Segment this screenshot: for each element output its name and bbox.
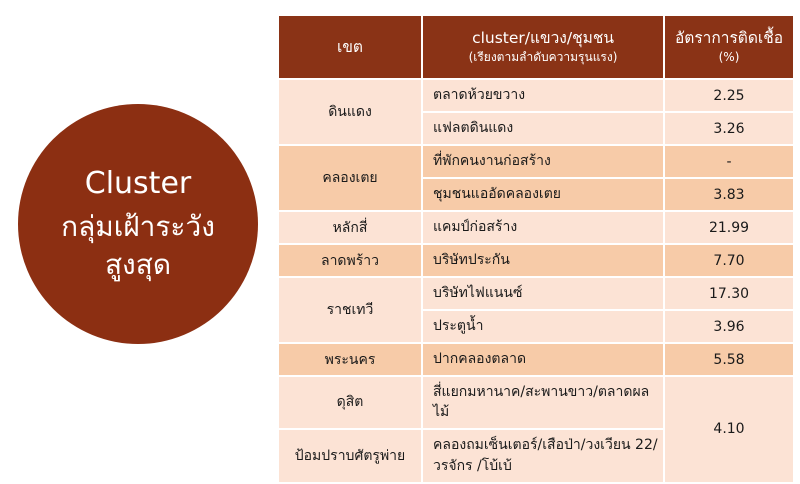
table-header-row: เขต cluster/แขวง/ชุมชน (เรียงตามลำดับควา… bbox=[279, 16, 793, 78]
cell-cluster: ที่พักคนงานก่อสร้าง bbox=[423, 146, 663, 177]
column-header-rate: อัตราการติดเชื้อ (%) bbox=[665, 16, 793, 78]
cell-rate: 3.83 bbox=[665, 179, 793, 210]
cell-cluster: บริษัทไฟแนนซ์ bbox=[423, 278, 663, 309]
column-header-district-label: เขต bbox=[285, 37, 415, 58]
cell-district: ดุสิต bbox=[279, 377, 421, 428]
column-header-rate-label: อัตราการติดเชื้อ bbox=[671, 28, 787, 49]
cell-district: ราชเทวี bbox=[279, 278, 421, 342]
cell-rate: - bbox=[665, 146, 793, 177]
cluster-badge: Cluster กลุ่มเฝ้าระวัง สูงสุด bbox=[18, 104, 258, 344]
cluster-badge-caption: สูงสุด bbox=[105, 247, 171, 283]
cell-district: หลักสี่ bbox=[279, 212, 421, 243]
column-header-rate-unit: (%) bbox=[671, 49, 787, 65]
cell-cluster: ตลาดห้วยขวาง bbox=[423, 80, 663, 111]
table-header: เขต cluster/แขวง/ชุมชน (เรียงตามลำดับควา… bbox=[279, 16, 793, 78]
cell-cluster: ประตูน้ำ bbox=[423, 311, 663, 342]
cell-rate: 5.58 bbox=[665, 344, 793, 375]
table-row: หลักสี่แคมป์ก่อสร้าง21.99 bbox=[279, 212, 793, 243]
cell-district: ลาดพร้าว bbox=[279, 245, 421, 276]
cluster-badge-subtitle: กลุ่มเฝ้าระวัง bbox=[61, 209, 215, 245]
cell-district: คลองเตย bbox=[279, 146, 421, 210]
table-row: พระนครปากคลองตลาด5.58 bbox=[279, 344, 793, 375]
cell-cluster: คลองถมเซ็นเตอร์/เสือป่า/วงเวียน 22/ วรจั… bbox=[423, 430, 663, 482]
cell-rate: 2.25 bbox=[665, 80, 793, 111]
cell-district: ดินแดง bbox=[279, 80, 421, 144]
table-row: ลาดพร้าวบริษัทประกัน7.70 bbox=[279, 245, 793, 276]
column-header-cluster: cluster/แขวง/ชุมชน (เรียงตามลำดับความรุน… bbox=[423, 16, 663, 78]
table-row: ราชเทวีบริษัทไฟแนนซ์17.30 bbox=[279, 278, 793, 309]
cell-rate: 3.96 bbox=[665, 311, 793, 342]
column-header-cluster-note: (เรียงตามลำดับความรุนแรง) bbox=[429, 49, 657, 65]
cell-rate: 3.26 bbox=[665, 113, 793, 144]
table-row: ดินแดงตลาดห้วยขวาง2.25 bbox=[279, 80, 793, 111]
table-body: ดินแดงตลาดห้วยขวาง2.25แฟลตดินแดง3.26คลอง… bbox=[279, 80, 793, 482]
cell-cluster: ชุมชนแออัดคลองเตย bbox=[423, 179, 663, 210]
cell-cluster: ปากคลองตลาด bbox=[423, 344, 663, 375]
infection-rate-table: เขต cluster/แขวง/ชุมชน (เรียงตามลำดับควา… bbox=[277, 14, 795, 484]
column-header-district: เขต bbox=[279, 16, 421, 78]
cell-district: ป้อมปราบศัตรูพ่าย bbox=[279, 430, 421, 482]
cell-cluster: บริษัทประกัน bbox=[423, 245, 663, 276]
cell-rate: 21.99 bbox=[665, 212, 793, 243]
cluster-badge-title: Cluster bbox=[85, 165, 191, 203]
cell-rate: 4.10 bbox=[665, 377, 793, 482]
table-row: คลองเตยที่พักคนงานก่อสร้าง- bbox=[279, 146, 793, 177]
cell-cluster: แคมป์ก่อสร้าง bbox=[423, 212, 663, 243]
cell-rate: 17.30 bbox=[665, 278, 793, 309]
cell-district: พระนคร bbox=[279, 344, 421, 375]
cell-rate: 7.70 bbox=[665, 245, 793, 276]
table-row: ดุสิตสี่แยกมหานาค/สะพานขาว/ตลาดผลไม้4.10 bbox=[279, 377, 793, 428]
cell-cluster: แฟลตดินแดง bbox=[423, 113, 663, 144]
cell-cluster: สี่แยกมหานาค/สะพานขาว/ตลาดผลไม้ bbox=[423, 377, 663, 428]
column-header-cluster-label: cluster/แขวง/ชุมชน bbox=[429, 28, 657, 49]
